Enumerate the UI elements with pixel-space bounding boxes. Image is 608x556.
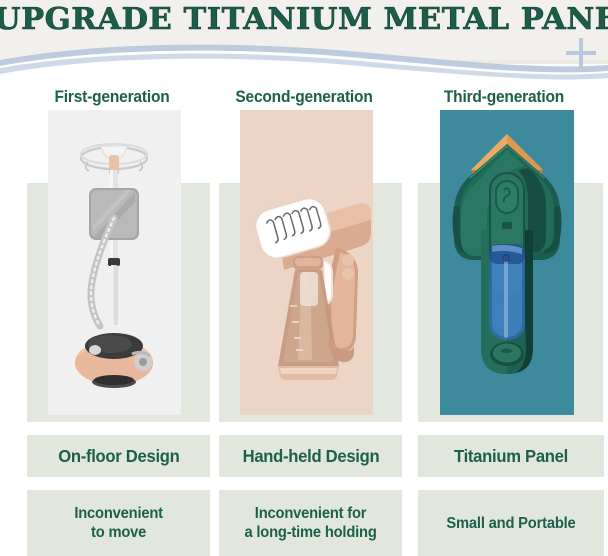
drawback-label-line-2: Inconvenient for a long-time holding [244,504,376,542]
column-heading: Third-generation [414,88,594,107]
column-heading: First-generation [23,88,202,107]
design-label-text: Titanium Panel [454,446,568,467]
column-heading: Second-generation [215,88,394,107]
product-photo-third-generation [440,110,574,415]
drawback-label-box: Small and Portable [418,490,604,556]
drawback-label-box: Inconvenient for a long-time holding [219,490,402,556]
design-label-box: Titanium Panel [418,435,604,477]
product-photo-first-generation [48,110,181,415]
design-label-text: On-floor Design [58,446,179,467]
infographic-page: UPGRADE TITANIUM METAL PANEL First-gener… [0,0,608,556]
drawback-label-box: Inconvenient to move [27,490,210,556]
drawback-label-line-1: Inconvenient to move [74,504,163,542]
design-label-box: On-floor Design [27,435,210,477]
design-label-text: Hand-held Design [242,446,379,467]
column-third-generation: Third-generation [408,0,600,556]
design-label-box: Hand-held Design [219,435,402,477]
column-second-generation: Second-generation [209,0,399,556]
product-photo-second-generation [240,110,373,415]
column-first-generation: First-generation [17,0,207,556]
drawback-label-line-3: Small and Portable [446,514,575,533]
